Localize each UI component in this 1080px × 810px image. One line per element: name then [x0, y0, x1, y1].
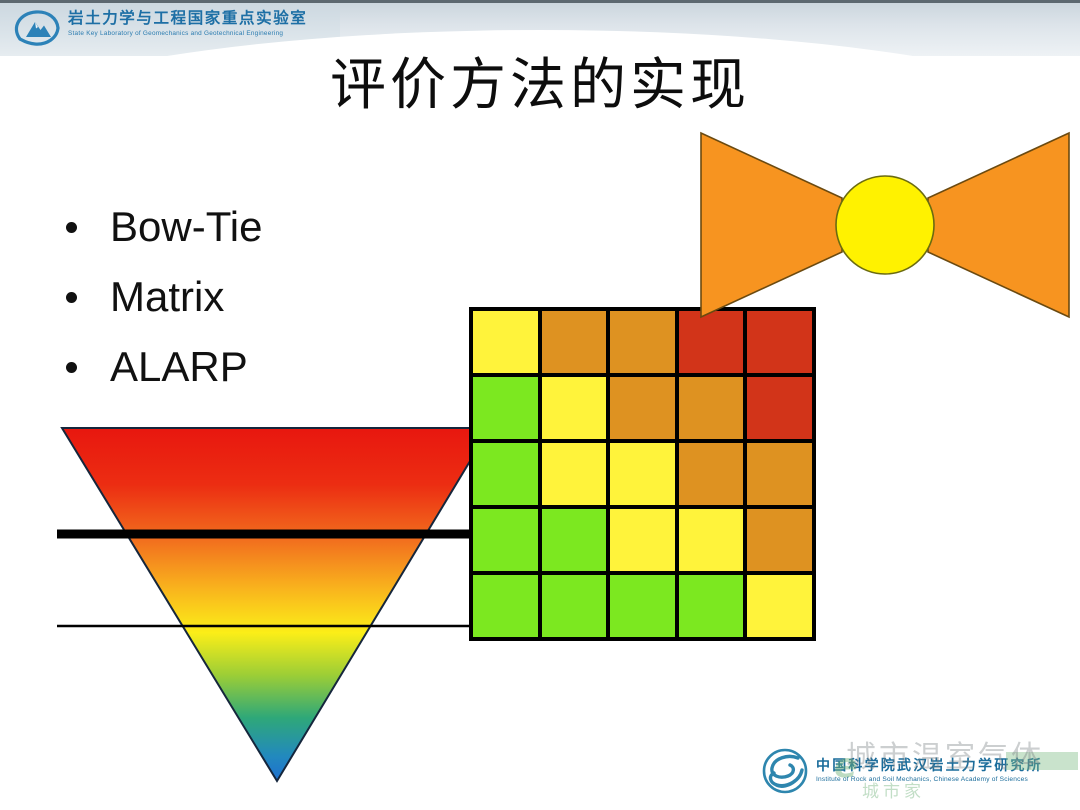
matrix-cell-r5c2[interactable]: [542, 575, 607, 637]
matrix-cell-r1c2[interactable]: [542, 311, 607, 373]
lab-title-cn: 岩土力学与工程国家重点实验室: [68, 10, 333, 28]
list-item: Matrix: [60, 262, 460, 332]
matrix-cell-r1c3[interactable]: [610, 311, 675, 373]
matrix-cell-r2c1[interactable]: [473, 377, 538, 439]
matrix-cell-r3c3[interactable]: [610, 443, 675, 505]
bow-tie-right-triangle: [928, 133, 1069, 317]
mountain-swoosh-logo-icon: [14, 9, 60, 47]
bullet-dot-icon: [66, 222, 77, 233]
bullet-dot-icon: [66, 362, 77, 373]
presentation-slide: 岩土力学与工程国家重点实验室 State Key Laboratory of G…: [0, 0, 1080, 810]
matrix-cell-r3c2[interactable]: [542, 443, 607, 505]
bow-tie-center-circle: [836, 176, 934, 274]
lab-logo-text-block: 岩土力学与工程国家重点实验室 State Key Laboratory of G…: [68, 10, 333, 38]
bow-tie-diagram: [690, 125, 1080, 325]
bullet-label-matrix: Matrix: [110, 273, 224, 321]
matrix-cell-r3c4[interactable]: [679, 443, 744, 505]
matrix-cell-r5c1[interactable]: [473, 575, 538, 637]
matrix-cell-r4c2[interactable]: [542, 509, 607, 571]
matrix-cell-r4c5[interactable]: [747, 509, 812, 571]
matrix-cell-r5c3[interactable]: [610, 575, 675, 637]
matrix-cell-r1c1[interactable]: [473, 311, 538, 373]
matrix-cell-r2c5[interactable]: [747, 377, 812, 439]
bullet-list: Bow-Tie Matrix ALARP: [60, 192, 460, 402]
matrix-cell-r2c4[interactable]: [679, 377, 744, 439]
page-title: 评价方法的实现: [0, 52, 1080, 120]
matrix-cell-r3c5[interactable]: [747, 443, 812, 505]
header-top-edge: [0, 0, 1080, 3]
matrix-cell-r2c2[interactable]: [542, 377, 607, 439]
matrix-cell-r4c3[interactable]: [610, 509, 675, 571]
matrix-cell-r2c3[interactable]: [610, 377, 675, 439]
alarp-triangle-diagram: [40, 415, 520, 795]
bullet-label-bow-tie: Bow-Tie: [110, 203, 262, 251]
footer-institute-en: Institute of Rock and Soil Mechanics, Ch…: [816, 775, 1080, 784]
footer-institute-block: 中国科学院武汉岩土力学研究所 Institute of Rock and Soi…: [816, 757, 1080, 784]
bullet-label-alarp: ALARP: [110, 343, 248, 391]
list-item: ALARP: [60, 332, 460, 402]
lab-title-en: State Key Laboratory of Geomechanics and…: [68, 29, 333, 38]
alarp-gradient-triangle: [62, 428, 490, 781]
bow-tie-left-triangle: [701, 133, 842, 317]
matrix-cell-r4c4[interactable]: [679, 509, 744, 571]
list-item: Bow-Tie: [60, 192, 460, 262]
matrix-cell-r5c4[interactable]: [679, 575, 744, 637]
bullet-dot-icon: [66, 292, 77, 303]
matrix-cell-r4c1[interactable]: [473, 509, 538, 571]
risk-matrix-5x5[interactable]: [469, 307, 816, 641]
footer-institute-cn: 中国科学院武汉岩土力学研究所: [816, 757, 1080, 774]
spiral-swirl-logo-icon: [762, 748, 808, 794]
matrix-cell-r3c1[interactable]: [473, 443, 538, 505]
matrix-cell-r5c5[interactable]: [747, 575, 812, 637]
